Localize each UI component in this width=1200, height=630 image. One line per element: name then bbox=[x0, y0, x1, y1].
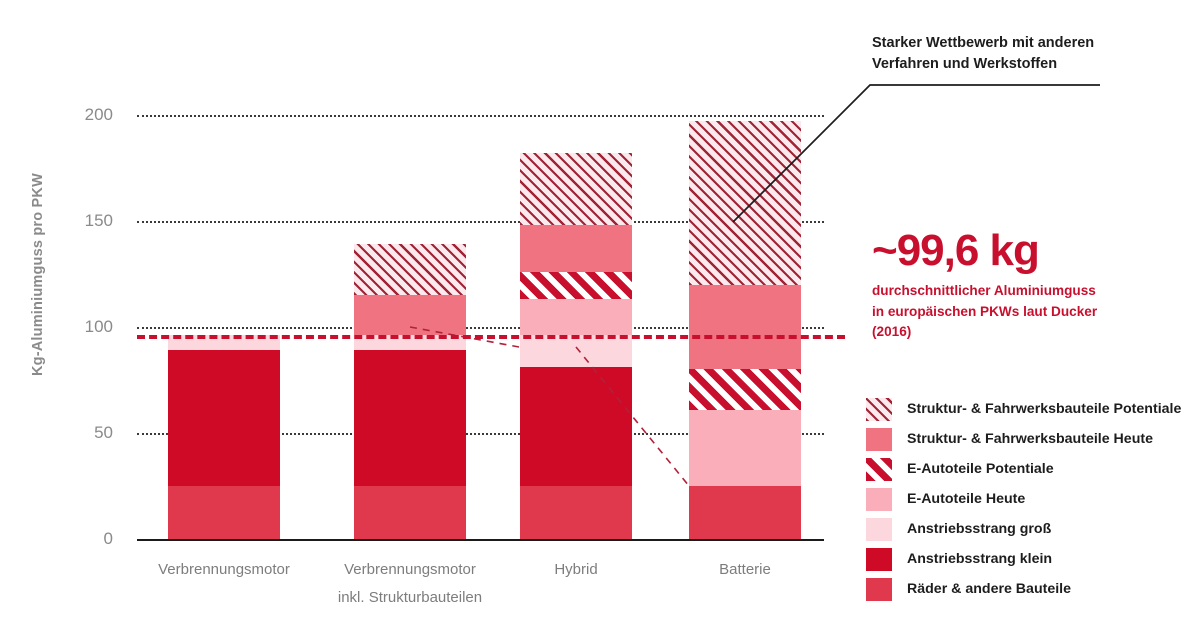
legend-swatch-epot bbox=[866, 458, 892, 481]
x-axis-baseline bbox=[137, 539, 824, 541]
legend-swatch-askl bbox=[866, 548, 892, 571]
legend-swatch-sheute bbox=[866, 428, 892, 451]
average-callout: ~99,6 kg durchschnittlicher Aluminiumgus… bbox=[872, 228, 1182, 342]
x-axis-label: Verbrennungsmotorinkl. Strukturbauteilen bbox=[338, 556, 482, 612]
x-axis-label-line1: Verbrennungsmotor bbox=[158, 556, 290, 584]
legend-item[interactable]: Struktur- & Fahrwerksbauteile Heute bbox=[866, 424, 1196, 454]
chart-canvas: Kg-Aluminiumguss pro PKW 200150100500 Ve… bbox=[0, 0, 1200, 630]
legend-item[interactable]: Räder & andere Bauteile bbox=[866, 574, 1196, 604]
y-axis-tick-100: 100 bbox=[55, 317, 113, 337]
competition-annotation: Starker Wettbewerb mit anderen Verfahren… bbox=[872, 33, 1172, 75]
bar-segment-askl[interactable] bbox=[354, 350, 466, 486]
legend-item[interactable]: Struktur- & Fahrwerksbauteile Potentiale bbox=[866, 394, 1196, 424]
x-axis-label-line1: Verbrennungsmotor bbox=[338, 556, 482, 584]
legend-item[interactable]: E-Autoteile Heute bbox=[866, 484, 1196, 514]
bar-segment-epot[interactable] bbox=[689, 369, 801, 409]
legend-label: Anstriebsstrang groß bbox=[907, 521, 1051, 537]
average-callout-line3: (2016) bbox=[872, 322, 1182, 342]
bar-segment-epot[interactable] bbox=[520, 272, 632, 300]
bar-segment-raeder[interactable] bbox=[354, 486, 466, 539]
x-axis-label-line1: Hybrid bbox=[554, 556, 597, 584]
average-reference-line bbox=[137, 335, 845, 339]
x-axis-label: Hybrid bbox=[554, 556, 597, 584]
legend-label: Struktur- & Fahrwerksbauteile Potentiale bbox=[907, 401, 1181, 417]
bar-column[interactable] bbox=[168, 335, 280, 539]
bar-segment-spot[interactable] bbox=[520, 153, 632, 225]
legend-label: E-Autoteile Potentiale bbox=[907, 461, 1054, 477]
legend-swatch-spot bbox=[866, 398, 892, 421]
bar-segment-eheute[interactable] bbox=[689, 410, 801, 486]
bar-column[interactable] bbox=[520, 153, 632, 539]
y-axis-title: Kg-Aluminiumguss pro PKW bbox=[30, 176, 46, 376]
bar-segment-spot[interactable] bbox=[689, 121, 801, 284]
bar-segment-spot[interactable] bbox=[354, 244, 466, 295]
competition-annotation-line2: Verfahren und Werkstoffen bbox=[872, 54, 1172, 75]
bar-segment-askl[interactable] bbox=[168, 350, 280, 486]
x-axis-label: Batterie bbox=[719, 556, 771, 584]
legend-label: Anstriebsstrang klein bbox=[907, 551, 1052, 567]
bar-column[interactable] bbox=[354, 244, 466, 539]
competition-annotation-line1: Starker Wettbewerb mit anderen bbox=[872, 33, 1172, 54]
y-axis-tick-0: 0 bbox=[55, 529, 113, 549]
gridline-200 bbox=[137, 115, 824, 117]
average-callout-headline: ~99,6 kg bbox=[872, 228, 1182, 274]
legend-swatch-asgr bbox=[866, 518, 892, 541]
x-axis-label-line2: inkl. Strukturbauteilen bbox=[338, 584, 482, 612]
legend-item[interactable]: Anstriebsstrang klein bbox=[866, 544, 1196, 574]
bar-segment-raeder[interactable] bbox=[168, 486, 280, 539]
legend-swatch-raeder bbox=[866, 578, 892, 601]
bar-segment-sheute[interactable] bbox=[354, 295, 466, 335]
bar-segment-askl[interactable] bbox=[520, 367, 632, 486]
bar-segment-asgr[interactable] bbox=[520, 335, 632, 367]
legend-item[interactable]: Anstriebsstrang groß bbox=[866, 514, 1196, 544]
bar-segment-eheute[interactable] bbox=[520, 299, 632, 335]
bar-segment-sheute[interactable] bbox=[520, 225, 632, 272]
legend-label: Räder & andere Bauteile bbox=[907, 581, 1071, 597]
y-axis-tick-200: 200 bbox=[55, 105, 113, 125]
legend-item[interactable]: E-Autoteile Potentiale bbox=[866, 454, 1196, 484]
y-axis-tick-50: 50 bbox=[55, 423, 113, 443]
legend-swatch-eheute bbox=[866, 488, 892, 511]
x-axis-label: Verbrennungsmotor bbox=[158, 556, 290, 584]
average-callout-line2: in europäischen PKWs laut Ducker bbox=[872, 302, 1182, 322]
y-axis-tick-150: 150 bbox=[55, 211, 113, 231]
legend-label: Struktur- & Fahrwerksbauteile Heute bbox=[907, 431, 1153, 447]
bar-segment-sheute[interactable] bbox=[689, 285, 801, 370]
bar-segment-raeder[interactable] bbox=[689, 486, 801, 539]
x-axis-label-line1: Batterie bbox=[719, 556, 771, 584]
bar-column[interactable] bbox=[689, 121, 801, 539]
legend-label: E-Autoteile Heute bbox=[907, 491, 1025, 507]
legend: Struktur- & Fahrwerksbauteile Potentiale… bbox=[866, 394, 1196, 604]
bar-segment-raeder[interactable] bbox=[520, 486, 632, 539]
average-callout-line1: durchschnittlicher Aluminiumguss bbox=[872, 281, 1182, 301]
average-callout-body: durchschnittlicher Aluminiumguss in euro… bbox=[872, 281, 1182, 342]
